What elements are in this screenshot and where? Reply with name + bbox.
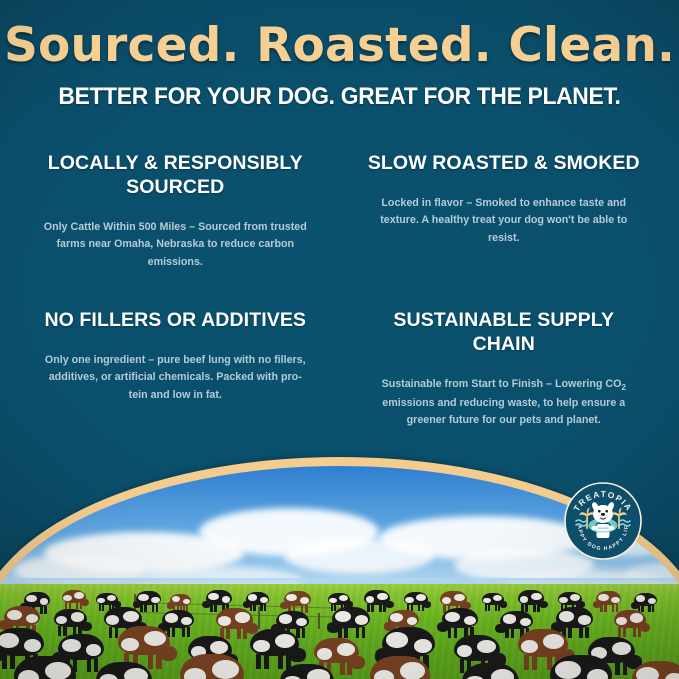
feature-body: Locked in flavor – Smoked to enhance tas… — [363, 195, 646, 247]
cow-leg — [210, 604, 213, 612]
cow — [216, 608, 253, 629]
cow-leg — [347, 661, 352, 675]
cow-patch — [138, 594, 149, 601]
cow-patch — [366, 596, 375, 603]
cow — [404, 592, 428, 605]
cow-leg — [99, 604, 101, 611]
cow-patch — [414, 639, 432, 653]
cow — [24, 592, 50, 607]
cow-patch — [184, 668, 206, 679]
cow — [382, 627, 435, 657]
cow-patch — [445, 612, 460, 622]
cow-leg — [618, 627, 621, 637]
cow-leg — [172, 627, 175, 637]
cow-patch — [464, 616, 476, 625]
promo-poster: Sourced. Roasted. Clean. BETTER FOR YOUR… — [0, 0, 679, 679]
cow-leg — [505, 628, 508, 638]
cow — [280, 664, 334, 679]
cow-patch — [521, 640, 538, 653]
cow-leg — [237, 628, 241, 640]
cow — [0, 628, 44, 656]
cow — [332, 607, 370, 628]
cow-patch — [26, 614, 38, 623]
cow-patch — [7, 610, 22, 620]
cow-patch — [275, 634, 296, 648]
feature-title: SUSTAINABLE SUPPLY CHAIN — [363, 309, 646, 357]
cow-patch — [317, 648, 332, 660]
cow-leg — [383, 604, 386, 612]
cow-patch — [63, 595, 71, 601]
cow-leg — [623, 627, 626, 637]
feature-body: Only one ingredient – pure beef lung wit… — [34, 352, 317, 404]
cow-leg — [144, 604, 147, 612]
cow-leg — [356, 627, 360, 639]
cow-leg — [495, 604, 497, 611]
feature-body-after: emissions and reducing waste, to help en… — [382, 397, 625, 426]
cow — [328, 593, 350, 605]
cow — [440, 591, 467, 606]
cow-leg — [524, 655, 529, 670]
cow-leg — [448, 627, 452, 638]
cow-patch — [62, 639, 81, 653]
cow — [62, 590, 86, 603]
cow-leg — [152, 604, 155, 612]
cow-patch — [222, 596, 231, 603]
header: Sourced. Roasted. Clean. BETTER FOR YOUR… — [0, 22, 679, 111]
cow-patch — [124, 668, 148, 679]
cow-patch — [45, 662, 71, 679]
cow — [54, 609, 87, 627]
cow-leg — [532, 655, 537, 670]
cow-leg — [243, 628, 247, 640]
cow — [206, 590, 232, 605]
cow-head — [385, 601, 394, 609]
cow-patch — [24, 639, 41, 652]
feature-locally-sourced: LOCALLY & RESPONSIBLY SOURCED Only Cattl… — [22, 152, 329, 271]
cow — [14, 656, 76, 679]
cow-patch — [307, 669, 330, 679]
cow — [4, 606, 40, 626]
cow-leg — [633, 627, 636, 637]
cow-patch — [543, 634, 564, 649]
cow — [634, 593, 657, 606]
cow-leg — [615, 661, 620, 675]
cow-leg — [109, 627, 113, 639]
cow — [136, 591, 161, 605]
cow — [388, 610, 419, 627]
cow-patch — [123, 611, 139, 622]
cow — [442, 608, 478, 628]
cow-patch — [355, 615, 368, 625]
cow-leg — [488, 604, 490, 611]
feature-slow-roasted: SLOW ROASTED & SMOKED Locked in flavor –… — [351, 152, 658, 271]
cow-leg — [623, 661, 628, 675]
cow — [96, 662, 152, 679]
cow-head — [350, 656, 365, 669]
cow-leg — [604, 604, 607, 612]
cow-patch — [165, 613, 178, 622]
cow — [550, 655, 612, 679]
cow-patch — [405, 597, 413, 603]
cow-patch — [648, 598, 656, 604]
page-subtitle: BETTER FOR YOUR DOG. GREAT FOR THE PLANE… — [24, 83, 655, 111]
cow-patch — [121, 638, 139, 651]
cow-patch — [555, 661, 581, 679]
cow — [462, 663, 519, 679]
cow-leg — [379, 604, 382, 612]
cow-head — [160, 646, 178, 661]
cow-leg — [485, 604, 487, 611]
cow-patch — [598, 594, 609, 601]
cow — [558, 592, 582, 605]
cow — [250, 629, 299, 656]
cow-leg — [537, 604, 540, 612]
cow-leg — [422, 604, 424, 611]
feature-no-fillers: NO FILLERS OR ADDITIVES Only one ingredi… — [22, 309, 329, 430]
cow — [518, 590, 544, 605]
cow-leg — [264, 654, 269, 669]
cow-patch — [407, 617, 418, 625]
cow-leg — [600, 604, 603, 612]
cow-leg — [253, 604, 255, 611]
cow-patch — [0, 633, 19, 648]
cow-patch — [183, 599, 190, 605]
feature-title: NO FILLERS OR ADDITIVES — [34, 309, 317, 333]
cow-patch — [337, 643, 356, 656]
cow-leg — [648, 605, 650, 612]
cow-leg — [2, 654, 7, 669]
cow-patch — [559, 597, 567, 603]
cow-leg — [260, 604, 262, 611]
cow-leg — [302, 628, 305, 638]
cow-head — [289, 648, 306, 662]
cow-patch — [559, 611, 575, 622]
feature-title: LOCALLY & RESPONSIBLY SOURCED — [34, 152, 317, 200]
cow — [118, 626, 170, 655]
cow-head — [640, 623, 651, 632]
cow-patch — [335, 611, 351, 622]
cow — [170, 594, 191, 606]
cow-patch — [260, 597, 268, 603]
cow-head — [81, 599, 89, 606]
cow-patch — [400, 662, 425, 679]
cow-patch — [630, 613, 643, 622]
cow-leg — [533, 604, 536, 612]
cow-patch — [279, 614, 293, 623]
cow-patch — [520, 596, 529, 603]
cow-leg — [264, 604, 266, 611]
cow-leg — [568, 627, 572, 639]
cow-patch — [587, 669, 608, 679]
cow-leg — [371, 604, 374, 612]
cow — [518, 629, 568, 657]
cow-head — [539, 601, 548, 609]
cow-patch — [40, 598, 49, 605]
cow-leg — [87, 658, 92, 672]
cow-patch — [212, 660, 239, 679]
cow-leg — [511, 628, 514, 638]
feature-body: Sustainable from Start to Finish – Lower… — [363, 376, 646, 430]
cow-leg — [344, 627, 348, 639]
cow-leg — [498, 604, 500, 611]
brand-badge-treatopia[interactable]: TREATOPIA HAPPY DOG HAPPY LIFE — [563, 481, 643, 561]
cow — [284, 591, 311, 606]
cow — [614, 610, 646, 628]
cow-leg — [44, 606, 47, 614]
cow — [632, 661, 679, 679]
cow-leg — [340, 661, 345, 675]
cow-leg — [652, 605, 654, 612]
cow-leg — [182, 627, 185, 637]
cow-patch — [442, 597, 451, 604]
cow-patch — [253, 640, 270, 652]
cow-patch — [578, 615, 591, 625]
cow — [500, 611, 533, 629]
cow-head — [80, 622, 91, 631]
cow-leg — [40, 606, 43, 614]
feature-body-before: Sustainable from Start to Finish – Lower… — [382, 378, 622, 390]
cow-patch — [665, 673, 679, 679]
cow-leg — [156, 604, 159, 612]
cow-patch — [210, 641, 228, 654]
page-title: Sourced. Roasted. Clean. — [0, 22, 679, 71]
cow — [556, 607, 593, 628]
cow-patch — [218, 616, 231, 626]
cow — [482, 593, 504, 605]
cow — [104, 607, 142, 628]
cow-patch — [503, 614, 517, 623]
co2-subscript: 2 — [621, 383, 625, 392]
cow-head — [423, 601, 431, 608]
cow-patch — [235, 612, 251, 623]
cow — [314, 638, 359, 663]
feature-grid: LOCALLY & RESPONSIBLY SOURCED Only Cattl… — [22, 152, 657, 430]
cow — [180, 654, 244, 679]
cow — [276, 611, 309, 629]
feature-title: SLOW ROASTED & SMOKED — [363, 152, 646, 176]
cow — [364, 590, 390, 605]
cow-patch — [18, 670, 39, 679]
feature-body: Only Cattle Within 500 Miles – Sourced f… — [34, 219, 317, 271]
cow-leg — [338, 627, 342, 639]
cow — [370, 656, 430, 679]
cow — [596, 591, 621, 605]
cow — [246, 592, 269, 605]
cow-patch — [611, 597, 620, 603]
cow-patch — [71, 612, 85, 621]
cow — [454, 635, 500, 661]
cow-leg — [579, 627, 583, 639]
feature-sustainable-supply: SUSTAINABLE SUPPLY CHAIN Sustainable fro… — [351, 309, 658, 430]
cow-patch — [151, 597, 160, 603]
cow — [96, 593, 118, 605]
cow-leg — [638, 627, 641, 637]
cow-leg — [256, 654, 261, 669]
cow-head — [500, 601, 507, 607]
cow-leg — [157, 653, 162, 669]
cow-leg — [362, 627, 366, 639]
